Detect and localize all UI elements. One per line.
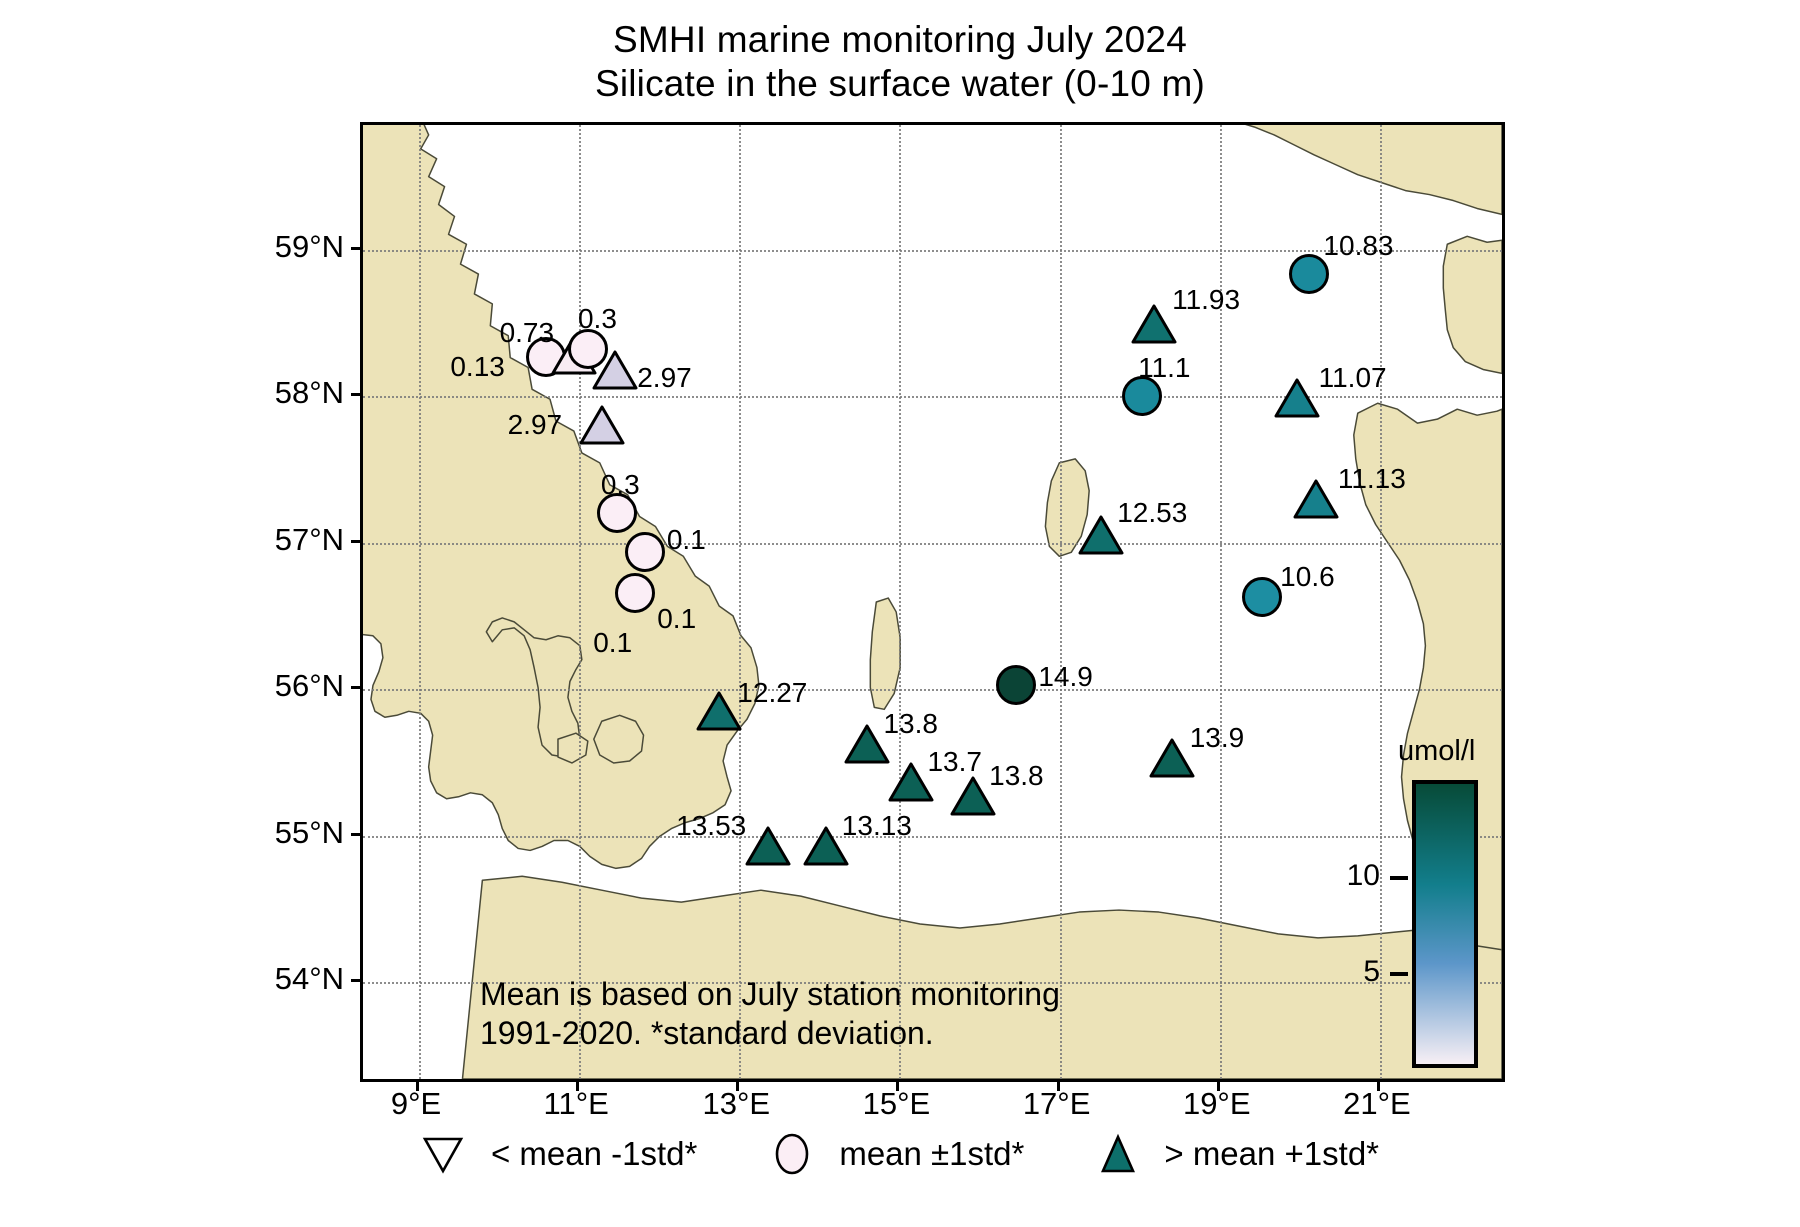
triangle-up-icon [1098, 1132, 1138, 1176]
triangle-up-marker-icon [1148, 736, 1196, 780]
data-marker[interactable] [996, 665, 1036, 705]
gridline-vertical [1060, 125, 1062, 1079]
data-point-value-label: 13.8 [883, 708, 938, 740]
circle-marker-icon [625, 532, 665, 572]
gridline-horizontal [363, 836, 1502, 838]
gridline-vertical [899, 125, 901, 1079]
x-axis-tick-label: 21°E [1343, 1086, 1411, 1122]
x-axis-tick-label: 13°E [703, 1086, 771, 1122]
gridline-horizontal [363, 689, 1502, 691]
data-marker[interactable] [578, 403, 626, 447]
y-axis-tick [351, 686, 360, 689]
data-point-value-label: 2.97 [508, 409, 563, 441]
data-marker[interactable] [1292, 477, 1340, 521]
colorbar-tick-label: 10 [1347, 859, 1380, 893]
gridline-horizontal [363, 543, 1502, 545]
y-axis-tick-label: 58°N [275, 375, 344, 411]
marker-legend: < mean -1std* mean ±1std* > mean +1std* [0, 1132, 1800, 1176]
legend-label-above-mean: > mean +1std* [1164, 1135, 1379, 1173]
x-axis-tick [1057, 1082, 1060, 1091]
data-point-value-label: 13.7 [927, 746, 982, 778]
data-point-value-label: 11.07 [1319, 362, 1387, 394]
data-marker[interactable] [1148, 736, 1196, 780]
legend-label-within-mean: mean ±1std* [839, 1135, 1024, 1173]
legend-item-below-mean[interactable]: < mean -1std* [421, 1133, 697, 1175]
colorbar-tick [1390, 876, 1408, 880]
circle-marker-icon [1242, 577, 1282, 617]
data-point-value-label: 10.83 [1323, 230, 1393, 262]
x-axis-tick [576, 1082, 579, 1091]
colorbar[interactable] [1412, 780, 1478, 1068]
data-point-value-label: 11.1 [1138, 352, 1190, 384]
data-marker[interactable] [625, 532, 665, 572]
data-point-value-label: 0.1 [667, 524, 706, 556]
data-point-value-label: 0.13 [450, 351, 505, 383]
triangle-up-marker-icon [578, 403, 626, 447]
data-point-value-label: 2.97 [637, 362, 692, 394]
data-point-value-label: 10.6 [1280, 561, 1335, 593]
footnote-line-1: Mean is based on July station monitoring [480, 975, 1060, 1014]
footnote-line-2: 1991-2020. *standard deviation. [480, 1014, 1060, 1053]
x-axis-tick-label: 15°E [863, 1086, 931, 1122]
gridline-vertical [419, 125, 421, 1079]
footnote: Mean is based on July station monitoring… [480, 975, 1060, 1053]
chart-title: SMHI marine monitoring July 2024 Silicat… [0, 18, 1800, 105]
y-axis-tick [351, 540, 360, 543]
x-axis-tick [896, 1082, 899, 1091]
title-line-1: SMHI marine monitoring July 2024 [0, 18, 1800, 62]
data-point-value-label: 11.93 [1172, 284, 1240, 316]
legend-item-within-mean[interactable]: mean ±1std* [771, 1132, 1024, 1176]
colorbar-tick-label: 5 [1363, 955, 1380, 989]
y-axis-tick-label: 55°N [275, 815, 344, 851]
y-axis-tick [351, 833, 360, 836]
data-point-value-label: 13.13 [842, 810, 912, 842]
y-axis-tick [351, 393, 360, 396]
data-point-value-label: 0.1 [657, 603, 696, 635]
x-axis-tick-label: 11°E [544, 1086, 609, 1122]
x-axis-tick [416, 1082, 419, 1091]
x-axis-tick [1377, 1082, 1380, 1091]
data-point-value-label: 12.53 [1117, 497, 1187, 529]
y-axis-tick-label: 56°N [275, 668, 344, 704]
data-marker[interactable] [695, 689, 743, 733]
gridline-vertical [1380, 125, 1382, 1079]
x-axis-tick [1217, 1082, 1220, 1091]
data-point-value-label: 14.9 [1038, 661, 1093, 693]
triangle-up-marker-icon [744, 824, 792, 868]
triangle-up-marker-icon [591, 348, 639, 392]
triangle-up-marker-icon [1292, 477, 1340, 521]
legend-label-below-mean: < mean -1std* [491, 1135, 697, 1173]
x-axis-tick-label: 19°E [1183, 1086, 1251, 1122]
y-axis-tick-label: 54°N [275, 961, 344, 997]
land-layer [363, 125, 1502, 1079]
map-plot-area[interactable]: 10.8311.9311.111.0711.1312.5310.614.913.… [360, 122, 1505, 1082]
data-point-value-label: 0.1 [593, 627, 632, 659]
data-marker[interactable] [615, 573, 655, 613]
legend-item-above-mean[interactable]: > mean +1std* [1098, 1132, 1379, 1176]
x-axis-tick-label: 9°E [391, 1086, 441, 1122]
data-point-value-label: 13.8 [989, 760, 1044, 792]
data-marker[interactable] [744, 824, 792, 868]
x-axis-tick-label: 17°E [1023, 1086, 1091, 1122]
y-axis-tick-label: 59°N [275, 229, 344, 265]
triangle-up-marker-icon [1130, 302, 1178, 346]
x-axis-tick [736, 1082, 739, 1091]
data-point-value-label: 0.73 [500, 317, 555, 349]
triangle-up-marker-icon [695, 689, 743, 733]
data-point-value-label: 12.27 [737, 677, 807, 709]
data-point-value-label: 11.13 [1338, 463, 1406, 495]
circle-icon [771, 1132, 813, 1176]
y-axis-tick-label: 57°N [275, 522, 344, 558]
colorbar-unit-label: umol/l [1398, 735, 1475, 768]
title-line-2: Silicate in the surface water (0-10 m) [0, 62, 1800, 106]
data-point-value-label: 13.53 [676, 810, 746, 842]
data-marker[interactable] [1242, 577, 1282, 617]
data-marker[interactable] [1273, 376, 1321, 420]
gridline-horizontal [363, 396, 1502, 398]
circle-marker-icon [615, 573, 655, 613]
colorbar-gradient [1412, 780, 1478, 1068]
gridline-vertical [1220, 125, 1222, 1079]
circle-marker-icon [996, 665, 1036, 705]
data-marker[interactable] [1130, 302, 1178, 346]
data-point-value-label: 0.3 [601, 469, 640, 501]
y-axis-tick [351, 247, 360, 250]
y-axis-tick [351, 979, 360, 982]
triangle-up-marker-icon [1273, 376, 1321, 420]
data-point-value-label: 0.3 [578, 303, 617, 335]
triangle-down-icon [421, 1133, 465, 1175]
gridline-vertical [579, 125, 581, 1079]
colorbar-tick [1390, 972, 1408, 976]
data-marker[interactable] [591, 348, 639, 392]
data-point-value-label: 13.9 [1190, 722, 1245, 754]
gridline-vertical [739, 125, 741, 1079]
